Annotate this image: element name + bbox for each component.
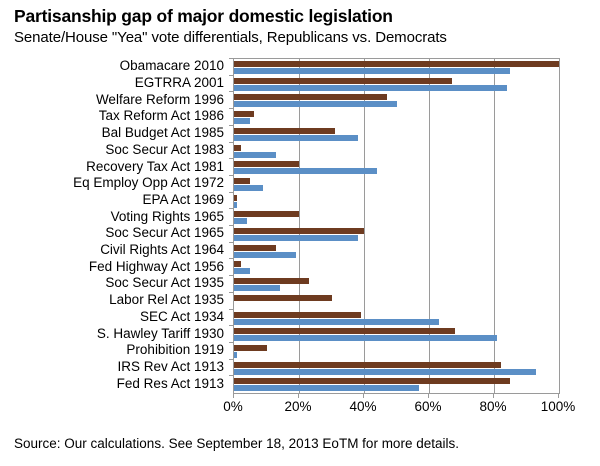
bar-group <box>234 310 559 327</box>
bar-group <box>234 176 559 193</box>
bar-house <box>234 135 358 141</box>
gridline <box>559 59 560 393</box>
bar-group <box>234 92 559 109</box>
bar-senate <box>234 261 241 267</box>
y-axis-label: Civil Rights Act 1964 <box>100 243 224 256</box>
bar-house <box>234 101 397 107</box>
y-axis-label: Bal Budget Act 1985 <box>102 126 224 139</box>
y-axis-label: Labor Rel Act 1935 <box>109 293 224 306</box>
bar-group <box>234 226 559 243</box>
bar-senate <box>234 245 276 251</box>
bar-group <box>234 360 559 377</box>
bar-group <box>234 143 559 160</box>
y-axis-label: IRS Rev Act 1913 <box>117 360 224 373</box>
bar-senate <box>234 378 510 384</box>
bar-group <box>234 243 559 260</box>
chart-subtitle: Senate/House "Yea" vote differentials, R… <box>14 29 447 46</box>
x-axis-tick <box>298 393 299 398</box>
x-axis-label: 60% <box>414 399 441 414</box>
bar-group <box>234 343 559 360</box>
x-axis: 0%20%40%60%80%100% <box>233 393 559 419</box>
bar-house <box>234 185 263 191</box>
y-axis-label: Welfare Reform 1996 <box>96 93 224 106</box>
bar-group <box>234 259 559 276</box>
y-axis-category-labels: Obamacare 2010EGTRRA 2001Welfare Reform … <box>0 58 229 392</box>
bar-group <box>234 126 559 143</box>
bar-house <box>234 85 507 91</box>
x-axis-label: 40% <box>349 399 376 414</box>
x-axis-label: 20% <box>284 399 311 414</box>
x-axis-label: 100% <box>541 399 576 414</box>
bar-senate <box>234 145 241 151</box>
bar-senate <box>234 94 387 100</box>
bar-senate <box>234 178 250 184</box>
chart-figure: Partisanship gap of major domestic legis… <box>0 0 600 466</box>
bar-senate <box>234 211 299 217</box>
x-axis-tick <box>428 393 429 398</box>
y-axis-label: Fed Res Act 1913 <box>117 377 224 390</box>
bar-group <box>234 76 559 93</box>
bar-senate <box>234 328 455 334</box>
bar-house <box>234 352 237 358</box>
bar-group <box>234 376 559 393</box>
y-axis-label: Tax Reform Act 1986 <box>99 109 224 122</box>
bar-house <box>234 319 439 325</box>
bar-group <box>234 59 559 76</box>
bar-group <box>234 276 559 293</box>
bar-house <box>234 202 237 208</box>
bar-senate <box>234 362 501 368</box>
bar-house <box>234 335 497 341</box>
bar-house <box>234 235 358 241</box>
bar-house <box>234 168 377 174</box>
bar-group <box>234 293 559 310</box>
y-axis-label: Eq Employ Opp Act 1972 <box>73 176 224 189</box>
y-axis-label: EPA Act 1969 <box>142 193 224 206</box>
bar-house <box>234 152 276 158</box>
y-axis-label: Voting Rights 1965 <box>111 210 224 223</box>
bar-house <box>234 268 250 274</box>
x-axis-label: 0% <box>223 399 243 414</box>
bar-senate <box>234 312 361 318</box>
bar-senate <box>234 195 237 201</box>
bar-senate <box>234 228 364 234</box>
x-axis-tick <box>493 393 494 398</box>
y-axis-label: Soc Secur Act 1965 <box>105 226 224 239</box>
y-axis-label: SEC Act 1934 <box>140 310 224 323</box>
bar-senate <box>234 78 452 84</box>
bar-senate <box>234 345 267 351</box>
bar-group <box>234 159 559 176</box>
bar-house <box>234 218 247 224</box>
bar-house <box>234 369 536 375</box>
y-axis-label: S. Hawley Tariff 1930 <box>97 327 224 340</box>
y-axis-label: Prohibition 1919 <box>126 343 224 356</box>
bar-group <box>234 193 559 210</box>
bar-senate <box>234 278 309 284</box>
y-axis-label: EGTRRA 2001 <box>135 76 224 89</box>
bar-senate <box>234 128 335 134</box>
source-note: Source: Our calculations. See September … <box>14 436 459 451</box>
bar-group <box>234 109 559 126</box>
bar-house <box>234 68 510 74</box>
x-axis-tick <box>363 393 364 398</box>
bar-senate <box>234 161 299 167</box>
bar-house <box>234 118 250 124</box>
y-axis-label: Obamacare 2010 <box>120 59 224 72</box>
y-axis-label: Soc Secur Act 1983 <box>105 143 224 156</box>
plot-area: Senate House <box>233 58 560 394</box>
bar-senate <box>234 61 559 67</box>
x-axis-tick <box>558 393 559 398</box>
y-axis-label: Soc Secur Act 1935 <box>105 276 224 289</box>
bar-group <box>234 326 559 343</box>
bar-group <box>234 209 559 226</box>
y-axis-label: Recovery Tax Act 1981 <box>86 160 224 173</box>
x-axis-tick <box>233 393 234 398</box>
bar-house <box>234 385 419 391</box>
bar-house <box>234 252 296 258</box>
page-title: Partisanship gap of major domestic legis… <box>14 6 393 27</box>
y-axis-label: Fed Highway Act 1956 <box>89 260 224 273</box>
x-axis-label: 80% <box>479 399 506 414</box>
bar-senate <box>234 111 254 117</box>
bar-house <box>234 285 280 291</box>
bar-senate <box>234 295 332 301</box>
